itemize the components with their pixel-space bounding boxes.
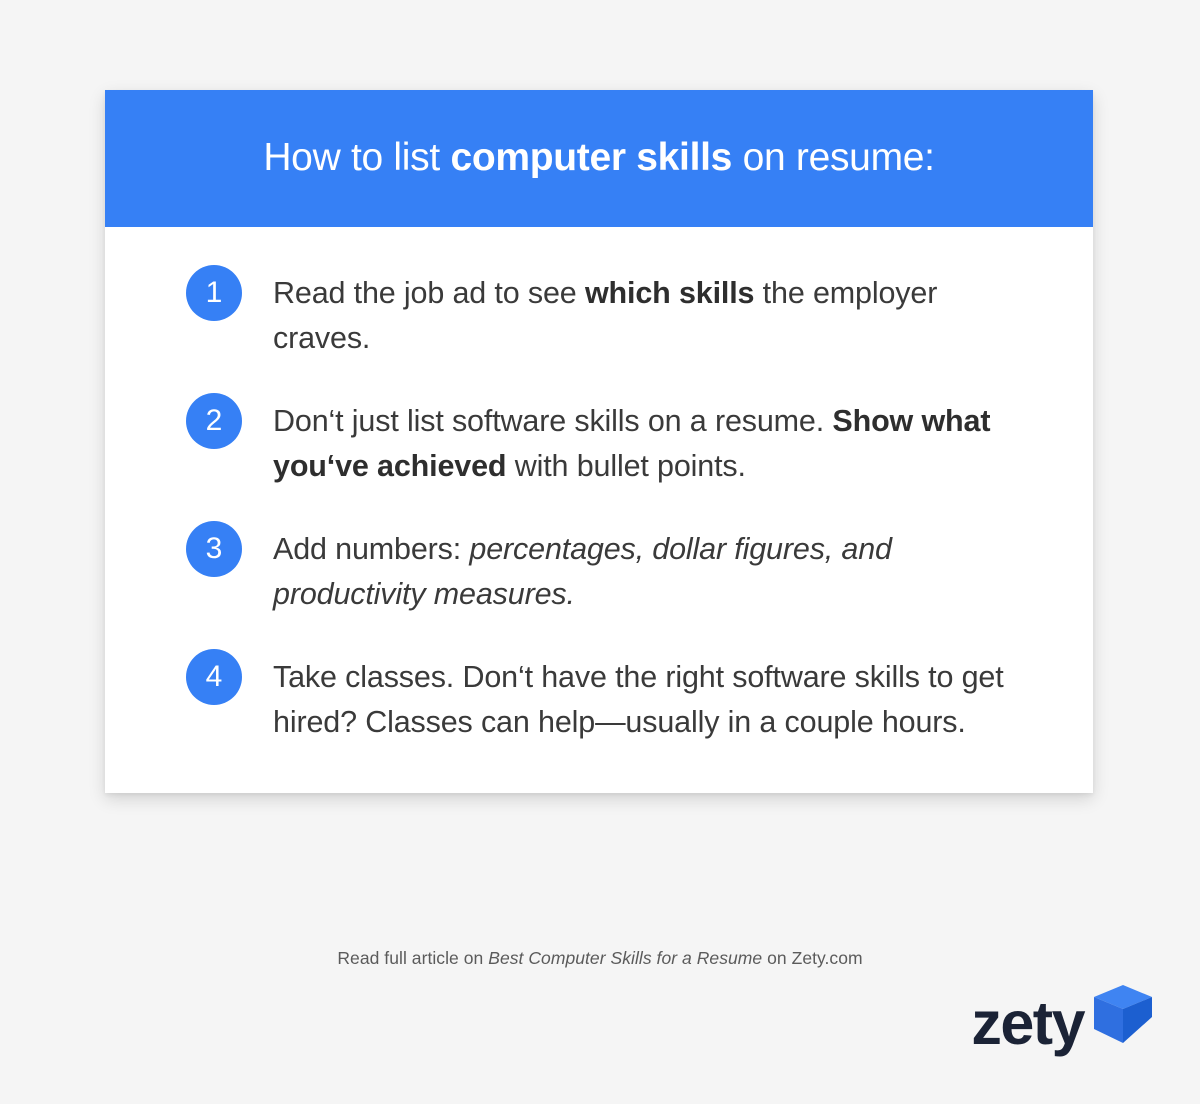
step-text: Don‘t just list software skills on a res… — [273, 399, 1033, 489]
title-segment-bold: computer skills — [450, 136, 732, 179]
tips-card: How to list computer skills on resume: 1… — [105, 90, 1093, 793]
zety-logo: zety — [971, 985, 1152, 1061]
step-text: Add numbers: percentages, dollar figures… — [273, 527, 1033, 617]
list-item: 4 Take classes. Don‘t have the right sof… — [105, 655, 1093, 745]
card-body: 1 Read the job ad to see which skills th… — [105, 227, 1093, 793]
title-segment-1: How to list — [263, 136, 450, 179]
footer-article-title: Best Computer Skills for a Resume — [488, 948, 762, 968]
step-segment: Don‘t just list software skills on a res… — [273, 404, 832, 438]
zety-wordmark: zety — [971, 993, 1084, 1054]
step-segment: Add numbers: — [273, 532, 469, 566]
footer-segment: on Zety.com — [762, 948, 862, 968]
step-number-badge: 3 — [186, 521, 242, 577]
step-number-badge: 2 — [186, 393, 242, 449]
step-segment: with bullet points. — [506, 449, 745, 483]
footer-segment: Read full article on — [337, 948, 488, 968]
zety-arrow-icon — [1090, 983, 1152, 1050]
step-segment: Read the job ad to see — [273, 276, 585, 310]
step-text: Take classes. Don‘t have the right softw… — [273, 655, 1033, 745]
step-number-badge: 4 — [186, 649, 242, 705]
list-item: 1 Read the job ad to see which skills th… — [105, 271, 1093, 361]
step-text: Read the job ad to see which skills the … — [273, 271, 1033, 361]
card-header: How to list computer skills on resume: — [105, 90, 1093, 227]
infographic-canvas: How to list computer skills on resume: 1… — [0, 0, 1200, 1104]
list-item: 2 Don‘t just list software skills on a r… — [105, 399, 1093, 489]
title-segment-2: on resume: — [732, 136, 935, 179]
step-segment: Take classes. Don‘t have the right softw… — [273, 660, 1004, 739]
step-number-badge: 1 — [186, 265, 242, 321]
step-segment-bold: which skills — [585, 276, 754, 310]
page-title: How to list computer skills on resume: — [263, 135, 934, 182]
footer-note: Read full article on Best Computer Skill… — [0, 948, 1200, 969]
list-item: 3 Add numbers: percentages, dollar figur… — [105, 527, 1093, 617]
